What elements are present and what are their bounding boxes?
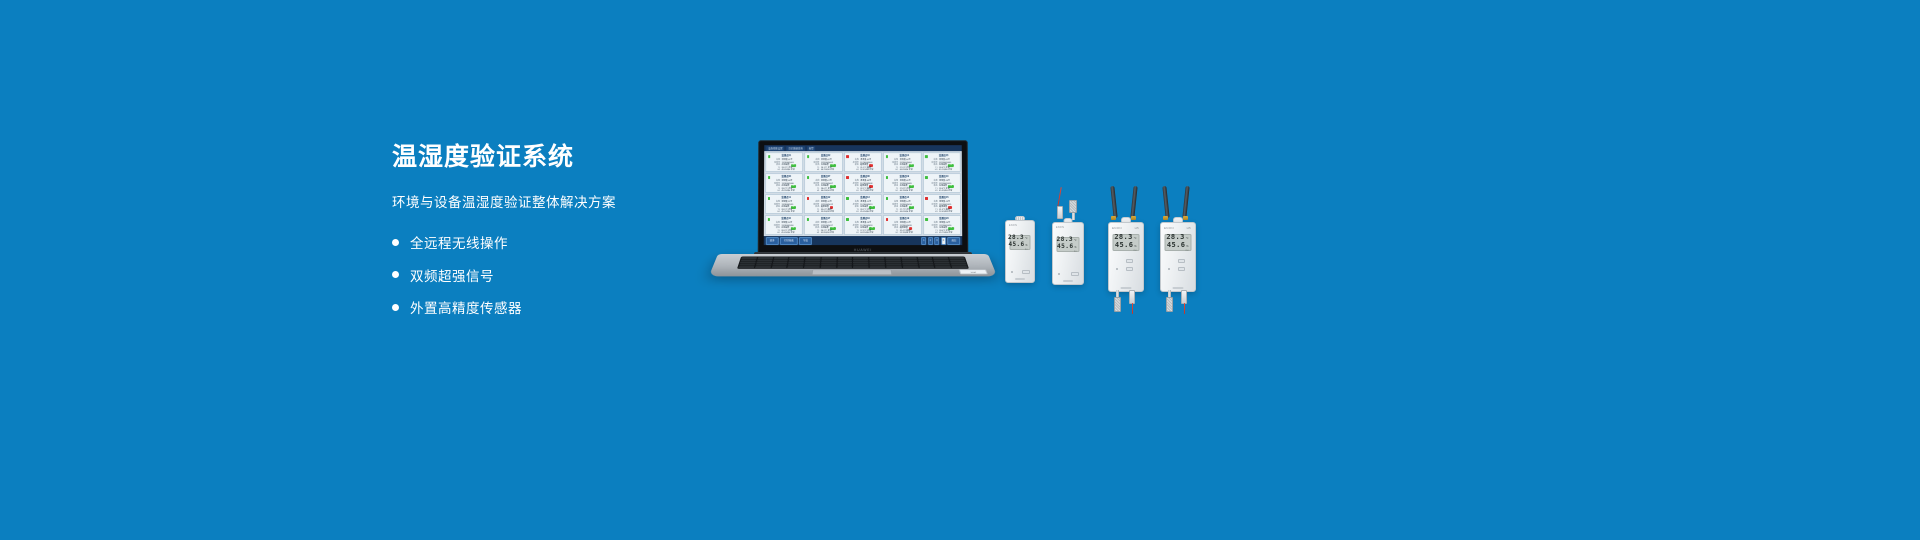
- card-title: 监测点20: [929, 218, 959, 221]
- status-led-icon: [807, 155, 810, 157]
- monitor-card[interactable]: 监测点19名称温湿度-19号序列号11230005019状态超限报警!T132.…: [883, 215, 921, 235]
- status-led-icon: [925, 197, 928, 199]
- keyboard-key[interactable]: [837, 266, 852, 268]
- monitor-card[interactable]: 监测点15名称温湿度-15号序列号11230005015状态超限报警!T131.…: [923, 194, 961, 214]
- monitor-card[interactable]: 监测点05名称温湿度-05号序列号11230005005状态在线采集OKT128…: [922, 152, 960, 172]
- monitor-card[interactable]: 监测点17名称温湿度-17号序列号11230005017状态在线采集OKT128…: [804, 215, 842, 235]
- antenna-left: [1110, 186, 1117, 218]
- keyboard-key[interactable]: [919, 266, 935, 268]
- pagination[interactable]: 1234: [921, 237, 946, 245]
- device-button[interactable]: [1071, 272, 1079, 276]
- monitor-card[interactable]: 监测点13名称温湿度-13号序列号11230005013状态在线采集OKT128…: [844, 194, 882, 214]
- status-led-icon: [767, 197, 770, 199]
- lcd-humidity-unit: %: [1134, 245, 1136, 248]
- keyboard-key[interactable]: [886, 266, 902, 268]
- monitor-card[interactable]: 监测点03名称温湿度-03号序列号11230005003状态超限报警!T131.…: [844, 152, 882, 172]
- status-led-icon: [925, 218, 928, 221]
- bullet-dot-icon: [392, 271, 399, 278]
- card-title: 监测点04: [889, 155, 919, 158]
- page-title: 温湿度验证系统: [392, 142, 722, 172]
- device-logger-compact: ENON 28.3 ℃ 45.6 % RH: [1005, 220, 1035, 283]
- monitor-card[interactable]: 监测点01名称温湿度-01号序列号11230005001状态在线采集OKT128…: [765, 152, 803, 172]
- monitor-card[interactable]: 监测点07名称温湿度-07号序列号11230005007状态在线采集OKT128…: [804, 173, 842, 193]
- lcd-temperature-value: 28.3: [1166, 233, 1184, 241]
- tab-alarm[interactable]: 报警: [807, 146, 816, 151]
- lcd-humidity-value: 45.6: [1167, 241, 1185, 249]
- lcd-humidity-row: 45.6 %: [1013, 241, 1028, 248]
- device-lcd-display: 28.3 ℃ 45.6 % RH: [1165, 234, 1192, 251]
- probe-mesh-filter: [1166, 297, 1173, 312]
- lcd-temperature-row: 28.3 ℃: [1013, 234, 1028, 241]
- card-title: 监测点18: [850, 218, 880, 221]
- lcd-humidity-value: 45.6: [1009, 241, 1025, 248]
- page-number-4[interactable]: 4: [941, 237, 946, 245]
- device-brand-label: ENON: [1009, 224, 1017, 227]
- feature-label: 外置高精度传感器: [410, 297, 522, 317]
- card-title: 监测点12: [810, 197, 840, 200]
- status-led-icon: [767, 218, 770, 221]
- laptop-base: intel: [709, 254, 997, 276]
- monitor-card[interactable]: 监测点02名称温湿度-02号序列号11230005002状态在线采集OKT128…: [804, 152, 842, 172]
- monitor-card[interactable]: 监测点14名称温湿度-14号序列号11230005014状态在线采集OKT127…: [883, 194, 921, 214]
- lcd-temperature-value: 28.3: [1008, 234, 1024, 241]
- monitor-card[interactable]: 监测点16名称温湿度-16号序列号11230005016状态在线采集OKT128…: [765, 215, 804, 235]
- antenna-left: [1162, 186, 1169, 218]
- status-led-icon: [886, 176, 889, 178]
- laptop-sticker: intel: [959, 269, 988, 274]
- card-title: 监测点11: [771, 197, 801, 200]
- probe-mesh-filter: [1069, 200, 1077, 213]
- status-led-icon: [925, 176, 928, 178]
- device-led-indicator: [1116, 268, 1118, 270]
- device-led-indicator: [1058, 273, 1060, 275]
- antenna-right: [1130, 186, 1137, 218]
- monitor-card[interactable]: 监测点06名称温湿度-06号序列号11230005006状态在线采集OKT128…: [765, 173, 803, 193]
- card-title: 监测点15: [929, 197, 959, 200]
- status-led-icon: [886, 155, 888, 157]
- lcd-temperature-value: 28.3: [1114, 233, 1132, 241]
- keyboard-key[interactable]: [935, 266, 951, 268]
- device-brand-label: ENON: [1112, 226, 1122, 230]
- card-title: 监测点01: [771, 155, 801, 158]
- keyboard-key[interactable]: [738, 266, 754, 268]
- lcd-humidity-unit: %: [1074, 246, 1076, 249]
- monitor-card[interactable]: 监测点20名称温湿度-20号序列号11230005020状态在线采集OKT128…: [923, 215, 962, 235]
- device-body: ENON H5 28.3 ℃ 45.6 % RH: [1160, 222, 1196, 292]
- product-banner: 温湿度验证系统 环境与设备温湿度验证整体解决方案 全远程无线操作 双频超强信号 …: [0, 0, 1920, 540]
- keyboard-key[interactable]: [952, 266, 968, 268]
- device-logger-dual-antenna-1: ENON H5 28.3 ℃ 45.6 % RH: [1108, 186, 1144, 292]
- card-title: 监测点03: [850, 155, 880, 158]
- more-button[interactable]: 更多: [766, 237, 779, 245]
- lcd-humidity-row: 45.6 %: [1168, 241, 1189, 249]
- tab-device-settings[interactable]: 设备参数设置: [766, 146, 784, 151]
- lcd-humidity-row: 45.6 %: [1060, 243, 1077, 250]
- probe-tip: [1129, 290, 1135, 304]
- card-title: 监测点07: [810, 176, 840, 179]
- keyboard-key[interactable]: [903, 266, 919, 268]
- device-body: ENON 28.3 ℃ 45.6 % RH: [1005, 220, 1035, 283]
- monitor-card[interactable]: 监测点04名称温湿度-04号序列号11230005004状态在线采集OKT127…: [883, 152, 921, 172]
- monitor-card[interactable]: 监测点12名称温湿度-12号序列号11230005012状态超限报警!T133.…: [804, 194, 842, 214]
- keyboard-key[interactable]: [788, 266, 804, 268]
- lcd-temperature-value: 28.3: [1057, 236, 1074, 243]
- monitor-card-grid: 监测点01名称温湿度-01号序列号11230005001状态在线采集OKT128…: [764, 151, 962, 236]
- app-bottom-toolbar: 更多 打印报表 导出 1234 退出: [764, 236, 962, 245]
- print-report-button[interactable]: 打印报表: [780, 237, 798, 245]
- lcd-footer-label: RH: [1116, 250, 1137, 252]
- status-led-icon: [886, 218, 889, 221]
- card-title: 监测点17: [810, 218, 840, 221]
- laptop-lid: 设备参数设置 历史数据查询 报警 监测点01名称温湿度-01号序列号112300…: [758, 140, 969, 256]
- status-led-icon: [807, 197, 810, 199]
- probe-wire: [1132, 303, 1133, 314]
- lcd-temperature-unit: ℃: [1025, 237, 1028, 240]
- probe-wire: [1184, 303, 1185, 314]
- device-button-down[interactable]: [1126, 267, 1133, 271]
- keyboard-key[interactable]: [771, 266, 787, 268]
- laptop-trackpad[interactable]: [812, 269, 893, 274]
- device-lcd-display: 28.3 ℃ 45.6 % RH: [1057, 237, 1080, 252]
- list-item: 全远程无线操作: [392, 232, 722, 252]
- device-button-up[interactable]: [1126, 259, 1133, 263]
- copy-block: 温湿度验证系统 环境与设备温湿度验证整体解决方案 全远程无线操作 双频超强信号 …: [392, 142, 722, 330]
- device-logger-probe: ENON 28.3 ℃ 45.6 % RH: [1052, 204, 1084, 285]
- probe-mesh-filter: [1114, 297, 1121, 312]
- status-led-icon: [807, 218, 810, 221]
- antenna-connector-right: [1131, 216, 1136, 220]
- lcd-footer-label: RH: [1168, 250, 1189, 252]
- card-title: 监测点10: [929, 176, 959, 179]
- status-led-icon: [886, 197, 889, 199]
- monitor-card[interactable]: 监测点18名称温湿度-18号序列号11230005018状态在线采集OKT127…: [844, 215, 882, 235]
- page-number-2[interactable]: 2: [928, 237, 933, 245]
- probe-tip: [1181, 290, 1187, 304]
- tab-history-query[interactable]: 历史数据查询: [787, 146, 805, 151]
- device-footer-strip: [1173, 287, 1184, 289]
- lcd-temperature-unit: ℃: [1186, 237, 1189, 240]
- keyboard-key[interactable]: [821, 266, 837, 268]
- status-led-icon: [846, 197, 849, 199]
- lcd-temperature-unit: ℃: [1134, 237, 1137, 240]
- card-title: 监测点06: [771, 176, 801, 179]
- export-button[interactable]: 导出: [799, 237, 812, 245]
- device-brand-label: ENON: [1164, 226, 1174, 230]
- device-button-down[interactable]: [1178, 267, 1185, 271]
- list-item: 双频超强信号: [392, 265, 722, 285]
- keyboard-row: [738, 266, 967, 268]
- card-title: 监测点14: [889, 197, 919, 200]
- monitor-card[interactable]: 监测点11名称温湿度-11号序列号11230005011状态在线采集OKT128…: [765, 194, 803, 214]
- status-led-icon: [768, 176, 771, 178]
- laptop-product-image: 设备参数设置 历史数据查询 报警 监测点01名称温湿度-01号序列号112300…: [718, 140, 988, 300]
- device-model-label: H5: [1187, 226, 1191, 230]
- page-number-3[interactable]: 3: [934, 237, 939, 245]
- lcd-humidity-unit: %: [1025, 244, 1027, 247]
- lcd-temperature-row: 28.3 ℃: [1168, 233, 1189, 241]
- probe-tip: [1057, 206, 1063, 219]
- device-footer-strip: [1015, 278, 1025, 280]
- lcd-footer-label: RH: [1060, 251, 1077, 253]
- keyboard-key[interactable]: [755, 266, 771, 268]
- exit-button[interactable]: 退出: [947, 237, 960, 245]
- laptop-screen: 设备参数设置 历史数据查询 报警 监测点01名称温湿度-01号序列号112300…: [764, 145, 962, 245]
- device-model-label: H5: [1135, 226, 1139, 230]
- bullet-dot-icon: [392, 239, 399, 246]
- device-lcd-display: 28.3 ℃ 45.6 % RH: [1113, 234, 1140, 251]
- feature-label: 双频超强信号: [410, 265, 494, 285]
- card-title: 监测点13: [850, 197, 880, 200]
- bullet-dot-icon: [392, 304, 399, 311]
- status-led-icon: [807, 176, 810, 178]
- device-logger-dual-antenna-2: ENON H5 28.3 ℃ 45.6 % RH: [1160, 186, 1196, 292]
- device-brand-label: ENON: [1056, 226, 1064, 229]
- card-title: 监测点05: [928, 155, 958, 158]
- lcd-footer-label: RH: [1013, 249, 1028, 251]
- list-item: 外置高精度传感器: [392, 297, 722, 317]
- monitor-card[interactable]: 监测点08名称温湿度-08号序列号11230005008状态超限报警!T132.…: [844, 173, 882, 193]
- antenna-connector-left: [1111, 216, 1116, 220]
- device-footer-strip: [1063, 280, 1073, 282]
- monitor-card[interactable]: 监测点10名称温湿度-10号序列号11230005010状态在线采集OKT128…: [923, 173, 961, 193]
- card-title: 监测点09: [889, 176, 919, 179]
- keyboard-key[interactable]: [804, 266, 820, 268]
- probe-wire: [1057, 187, 1062, 207]
- device-led-indicator: [1168, 268, 1170, 270]
- device-led-indicator: [1011, 271, 1013, 273]
- keyboard-key[interactable]: [854, 266, 869, 268]
- sensor-device-group: ENON 28.3 ℃ 45.6 % RH: [1000, 186, 1210, 316]
- device-body: ENON H5 28.3 ℃ 45.6 % RH: [1108, 222, 1144, 292]
- status-led-icon: [846, 155, 848, 157]
- monitor-card[interactable]: 监测点09名称温湿度-09号序列号11230005009状态在线采集OKT127…: [883, 173, 921, 193]
- keyboard-key[interactable]: [870, 266, 886, 268]
- antenna-connector-left: [1163, 216, 1168, 220]
- card-title: 监测点19: [889, 218, 919, 221]
- lcd-humidity-value: 45.6: [1057, 243, 1074, 250]
- device-body: ENON 28.3 ℃ 45.6 % RH: [1052, 222, 1084, 285]
- feature-label: 全远程无线操作: [410, 232, 508, 252]
- status-led-icon: [925, 155, 928, 157]
- lcd-temperature-row: 28.3 ℃: [1060, 236, 1077, 243]
- antenna-right: [1182, 186, 1189, 218]
- lcd-temperature-row: 28.3 ℃: [1116, 233, 1137, 241]
- lcd-humidity-value: 45.6: [1115, 241, 1133, 249]
- status-led-icon: [768, 155, 771, 157]
- device-lcd-display: 28.3 ℃ 45.6 % RH: [1010, 235, 1031, 250]
- antenna-connector-right: [1183, 216, 1188, 220]
- status-led-icon: [846, 176, 848, 178]
- laptop-keyboard[interactable]: [737, 256, 969, 268]
- device-button-up[interactable]: [1178, 259, 1185, 263]
- card-title: 监测点08: [850, 176, 880, 179]
- feature-list: 全远程无线操作 双频超强信号 外置高精度传感器: [392, 232, 722, 317]
- lcd-humidity-row: 45.6 %: [1116, 241, 1137, 249]
- device-button[interactable]: [1022, 270, 1030, 274]
- page-subtitle: 环境与设备温湿度验证整体解决方案: [392, 191, 722, 211]
- lcd-humidity-unit: %: [1186, 245, 1188, 248]
- card-title: 监测点16: [771, 218, 801, 221]
- card-title: 监测点02: [810, 155, 840, 158]
- status-led-icon: [846, 218, 849, 221]
- page-number-1[interactable]: 1: [921, 237, 926, 245]
- lcd-temperature-unit: ℃: [1074, 239, 1077, 242]
- device-footer-strip: [1121, 287, 1132, 289]
